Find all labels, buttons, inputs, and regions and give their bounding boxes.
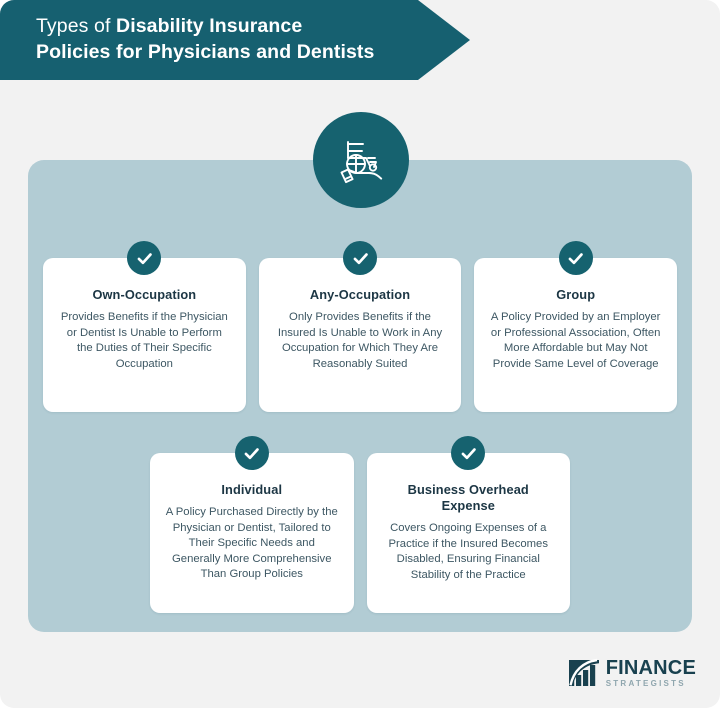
brand-logo: FINANCE STRATEGISTS [567, 658, 696, 688]
card-body: Only Provides Benefits if the Insured Is… [274, 310, 447, 372]
brand-tagline: STRATEGISTS [606, 680, 696, 688]
card-individual: Individual A Policy Purchased Directly b… [150, 453, 354, 613]
wheelchair-in-hand-icon [313, 112, 409, 208]
bar-chart-swoosh-icon [567, 658, 601, 688]
header-banner: Types of Disability Insurance Policies f… [0, 0, 470, 80]
page-title-bold-line1: Disability Insurance [116, 15, 302, 37]
card-own-occupation: Own-Occupation Provides Benefits if the … [43, 258, 246, 412]
infographic-root: Types of Disability Insurance Policies f… [0, 0, 720, 708]
card-row-two: Individual A Policy Purchased Directly b… [150, 453, 570, 613]
card-body: A Policy Purchased Directly by the Physi… [165, 505, 339, 583]
check-icon [559, 241, 593, 275]
card-group: Group A Policy Provided by an Employer o… [474, 258, 677, 412]
check-icon [343, 241, 377, 275]
card-title: Any-Occupation [274, 287, 447, 303]
card-title: Individual [165, 482, 339, 498]
card-business-overhead-expense: Business Overhead Expense Covers Ongoing… [367, 453, 571, 613]
card-title: Own-Occupation [58, 287, 231, 303]
card-body: A Policy Provided by an Employer or Prof… [489, 310, 662, 372]
brand-name: FINANCE [606, 658, 696, 678]
card-row-one: Own-Occupation Provides Benefits if the … [43, 258, 677, 412]
card-body: Covers Ongoing Expenses of a Practice if… [382, 521, 556, 583]
card-title: Business Overhead Expense [382, 482, 556, 514]
check-icon [235, 436, 269, 470]
page-title: Types of Disability Insurance Policies f… [36, 13, 426, 65]
check-icon [127, 241, 161, 275]
page-title-light: Types of [36, 15, 116, 37]
brand-logo-text: FINANCE STRATEGISTS [606, 658, 696, 688]
card-any-occupation: Any-Occupation Only Provides Benefits if… [259, 258, 462, 412]
page-title-bold-line2: Policies for Physicians and Dentists [36, 41, 374, 63]
card-body: Provides Benefits if the Physician or De… [58, 310, 231, 372]
check-icon [451, 436, 485, 470]
card-title: Group [489, 287, 662, 303]
